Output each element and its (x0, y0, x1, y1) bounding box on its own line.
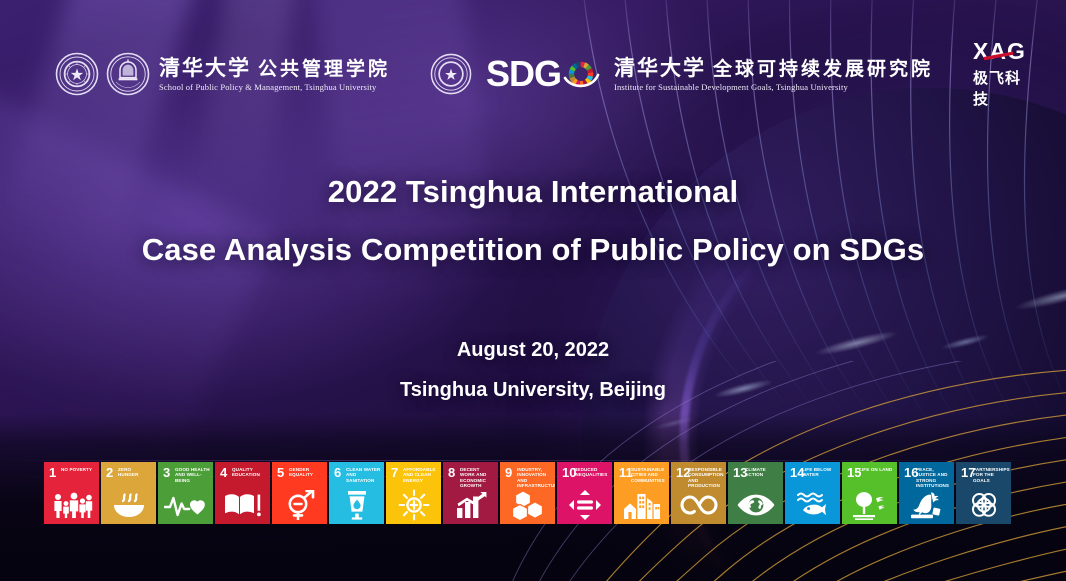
sdg-label: Life Below Water (802, 467, 837, 478)
sdg-label: No Poverty (61, 467, 96, 472)
event-title-line1: 2022 Tsinghua International (0, 168, 1066, 216)
dove-gavel-icon (899, 490, 954, 520)
sdg-tile-6[interactable]: 6 Clean Water and Sanitation (329, 462, 384, 524)
infinity-icon (671, 490, 726, 520)
equal-arrows-icon (557, 490, 612, 520)
sdg-goals-strip: 1 No Poverty 2 Zero Hunger (44, 462, 1011, 524)
sdg-label: Gender Equality (289, 467, 324, 478)
logo2-chinese-name: 清华大学全球可持续发展研究院 (614, 56, 933, 82)
fish-waves-icon (785, 490, 840, 520)
logo-school-of-public-policy-management: 清华大学公共管理学院 School of Public Policy & Man… (55, 52, 390, 96)
sdg-number: 7 (391, 467, 398, 479)
sdg-wordmark: SDG (486, 54, 602, 94)
tsinghua-seal-icon (55, 52, 99, 96)
tsinghua-seal-icon (430, 53, 472, 95)
sdg-tile-16[interactable]: 16 Peace, Justice and Strong Institution… (899, 462, 954, 524)
sdg-tile-1[interactable]: 1 No Poverty (44, 462, 99, 524)
water-glass-icon (329, 490, 384, 520)
sdg-number: 4 (220, 467, 227, 479)
sdg-tile-14[interactable]: 14 Life Below Water (785, 462, 840, 524)
sdg-tile-12[interactable]: 12 Responsible Consumption and Productio… (671, 462, 726, 524)
sdg-number: 9 (505, 467, 512, 479)
sdg-label: Clean Water and Sanitation (346, 467, 381, 483)
sdg-label: Responsible Consumption and Production (688, 467, 723, 489)
sponsor-logo-bar: 清华大学公共管理学院 School of Public Policy & Man… (0, 38, 1066, 110)
logo-institute-for-sustainable-development-goals: SDG (430, 53, 933, 95)
sdg-number: 8 (448, 467, 455, 479)
sdg-tile-13[interactable]: 13 Climate Action (728, 462, 783, 524)
logo2-english-name: Institute for Sustainable Development Go… (614, 82, 933, 92)
sdg-number: 6 (334, 467, 341, 479)
sdg-label: Quality Education (232, 467, 267, 478)
sdg-label: Decent Work and Economic Growth (460, 467, 495, 489)
event-title-line2: Case Analysis Competition of Public Poli… (0, 226, 1066, 274)
steaming-bowl-icon (101, 490, 156, 520)
eye-earth-icon (728, 490, 783, 520)
sdg-tile-10[interactable]: 10 Reduced Inequalities (557, 462, 612, 524)
sdg-label: Partnerships for the Goals (973, 467, 1008, 483)
logo-xag: XAG 极飞科技 (973, 40, 1026, 109)
xag-chinese-name: 极飞科技 (973, 67, 1026, 109)
event-poster: 清华大学公共管理学院 School of Public Policy & Man… (0, 0, 1066, 581)
sdg-number: 2 (106, 467, 113, 479)
city-buildings-icon (614, 490, 669, 520)
event-title-block: 2022 Tsinghua International Case Analysi… (0, 168, 1066, 274)
open-book-icon (215, 490, 270, 520)
cubes-icon (500, 490, 555, 520)
sdg-label: Industry, Innovation and Infrastructure (517, 467, 552, 489)
sdg-tile-17[interactable]: 17 Partnerships for the Goals (956, 462, 1011, 524)
gender-symbols-icon (272, 490, 327, 520)
sdg-label: Peace, Justice and Strong Institutions (916, 467, 951, 489)
sdg-label: Climate Action (745, 467, 780, 478)
sdg-label: Sustainable Cities and Communities (631, 467, 666, 483)
xag-wordmark: XAG (973, 40, 1026, 63)
growth-chart-icon (443, 490, 498, 520)
sdg-label: Zero Hunger (118, 467, 153, 478)
logo1-english-name: School of Public Policy & Management, Ts… (159, 82, 390, 92)
sdg-tile-15[interactable]: 15 Life on Land (842, 462, 897, 524)
sdg-tile-5[interactable]: 5 Gender Equality (272, 462, 327, 524)
sdg-label: Life on Land (859, 467, 894, 472)
sdg-tile-8[interactable]: 8 Decent Work and Economic Growth (443, 462, 498, 524)
sdg-tile-11[interactable]: 11 Sustainable Cities and Communities (614, 462, 669, 524)
sdg-number: 3 (163, 467, 170, 479)
logo1-chinese-name: 清华大学公共管理学院 (159, 56, 390, 82)
sdg-tile-9[interactable]: 9 Industry, Innovation and Infrastructur… (500, 462, 555, 524)
family-icon (44, 490, 99, 520)
sdg-tile-2[interactable]: 2 Zero Hunger (101, 462, 156, 524)
interlocked-circles-icon (956, 490, 1011, 520)
sdg-label: Good Health and Well-Being (175, 467, 210, 483)
sdg-color-wheel-icon (562, 54, 602, 94)
sdg-tile-7[interactable]: 7 Affordable and Clean Energy (386, 462, 441, 524)
sdg-label: Affordable and Clean Energy (403, 467, 438, 483)
sdg-tile-4[interactable]: 4 Quality Education (215, 462, 270, 524)
sppm-seal-icon (106, 52, 150, 96)
sdg-tile-3[interactable]: 3 Good Health and Well-Being (158, 462, 213, 524)
heartbeat-icon (158, 490, 213, 520)
sdg-label: Reduced Inequalities (574, 467, 609, 478)
sun-power-icon (386, 490, 441, 520)
sdg-number: 1 (49, 467, 56, 479)
tree-birds-icon (842, 490, 897, 520)
sdg-number: 5 (277, 467, 284, 479)
